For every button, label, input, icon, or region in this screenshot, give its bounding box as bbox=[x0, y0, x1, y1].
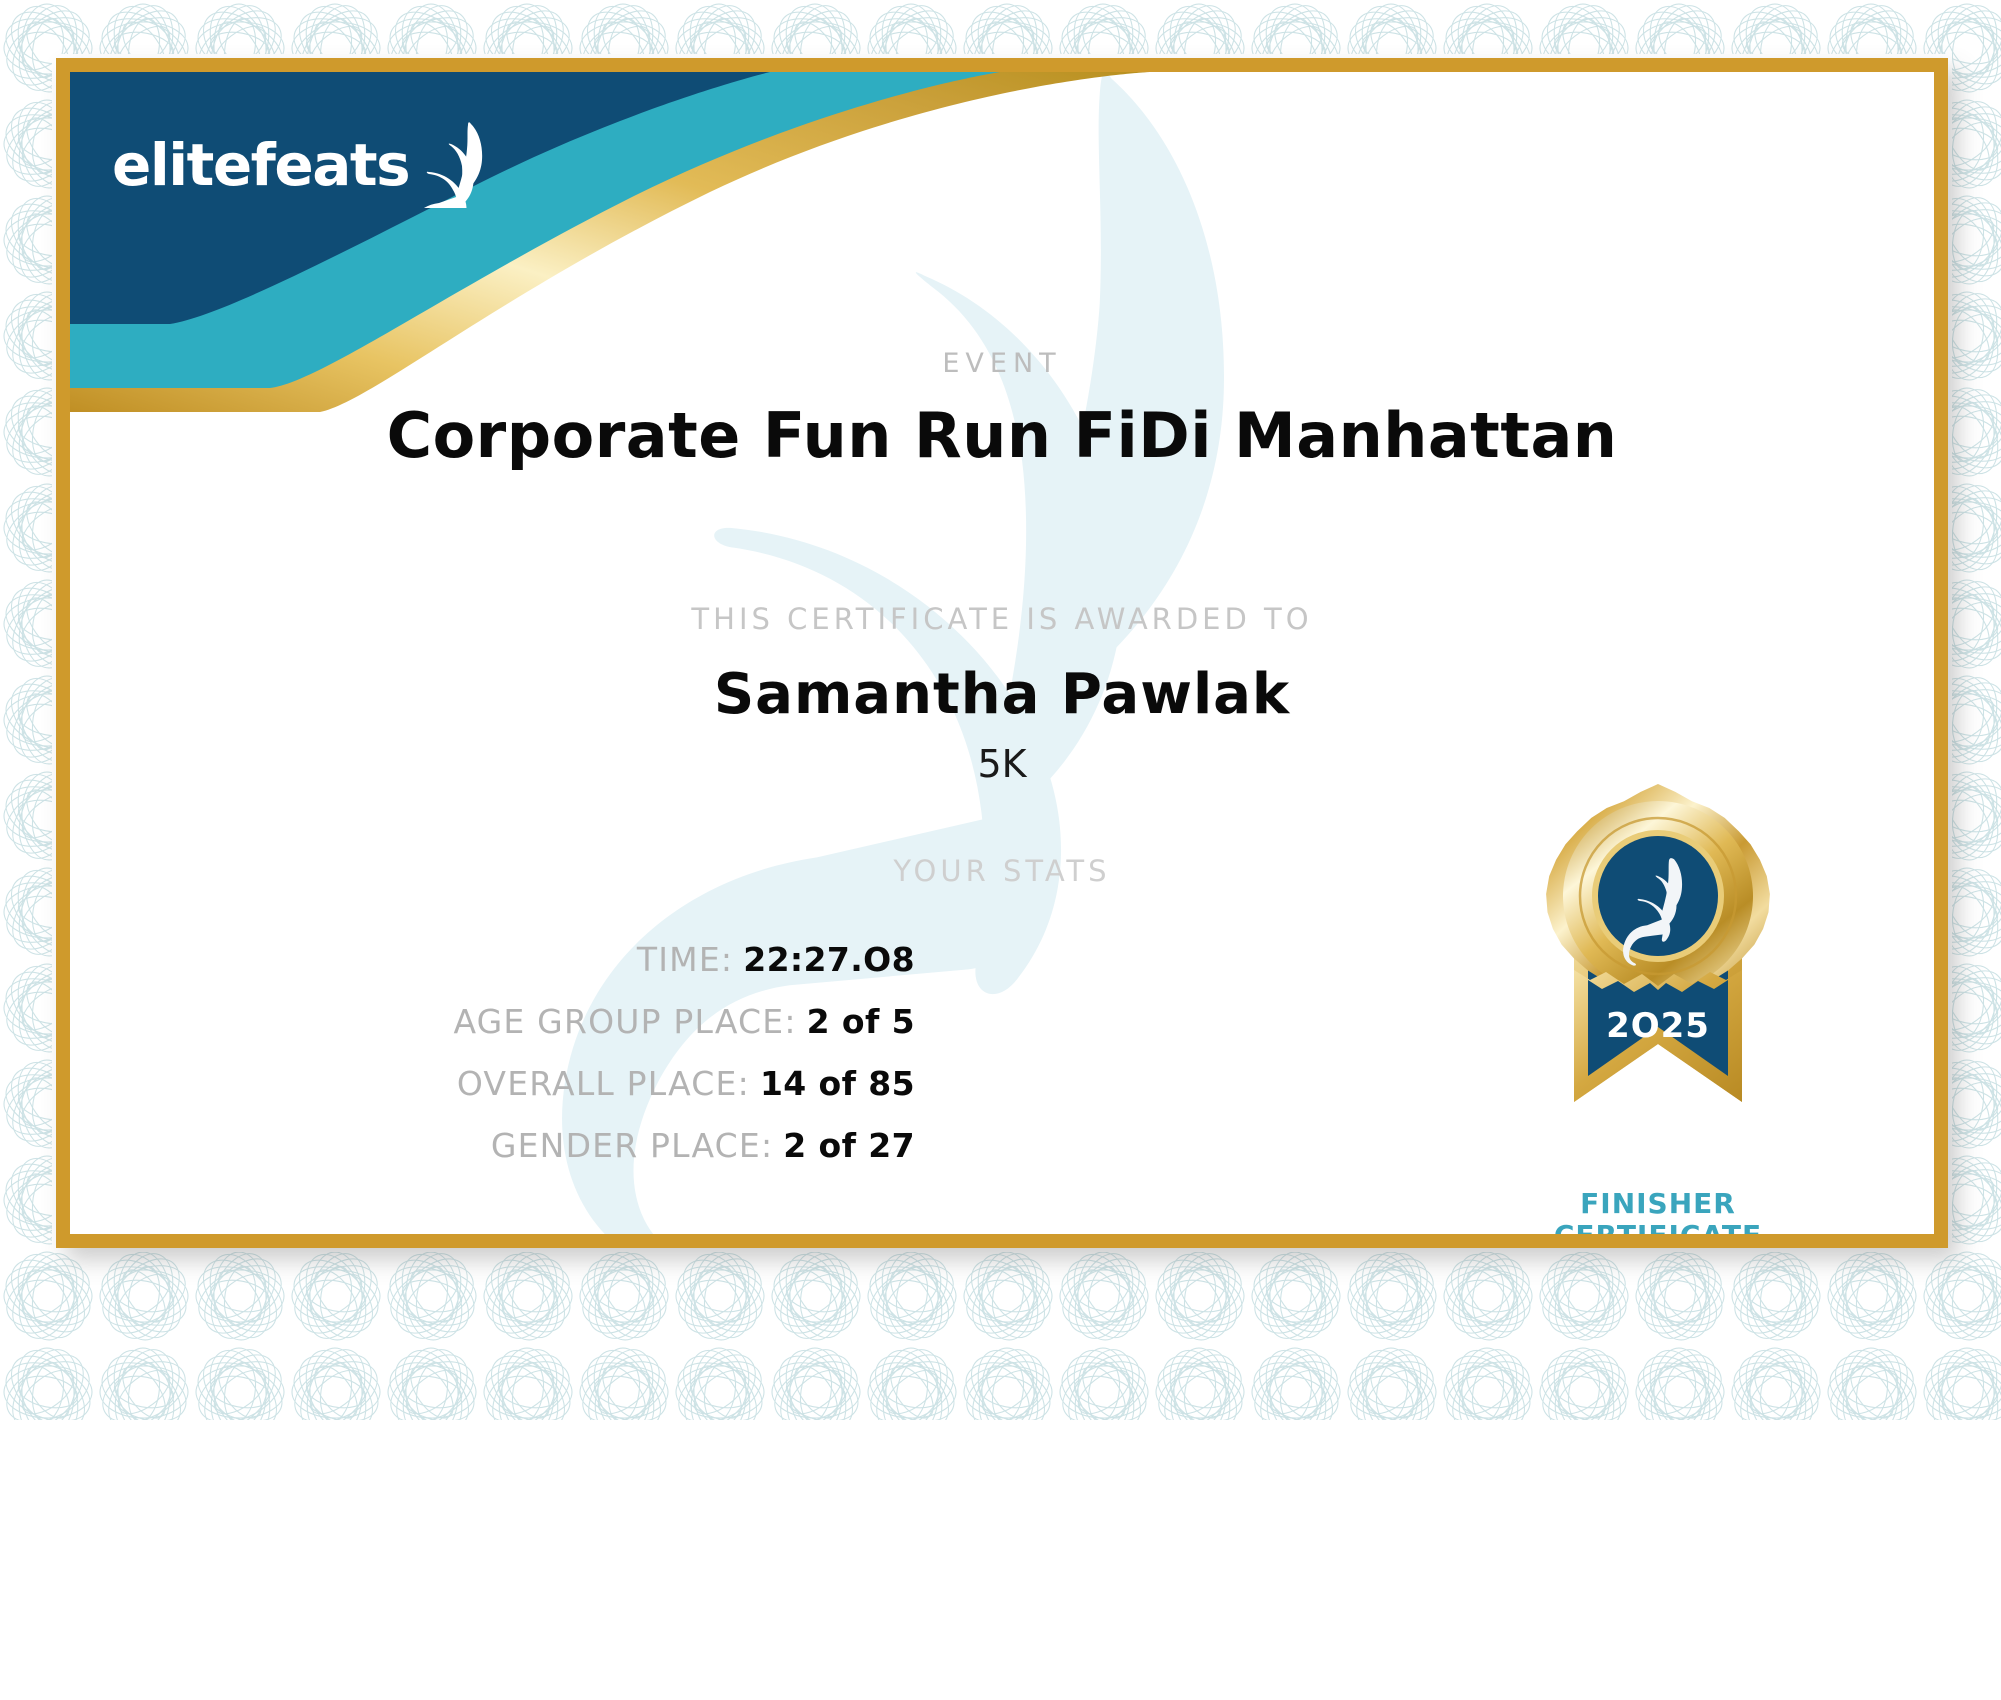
event-title: Corporate Fun Run FiDi Manhattan bbox=[70, 399, 1934, 472]
stat-label: OVERALL PLACE: bbox=[457, 1064, 750, 1103]
certificate-inner: elitefeats EVENT Corporate Fun Run FiDi … bbox=[70, 72, 1934, 1234]
stat-row-overall-place: OVERALL PLACE: 14 of 85 bbox=[70, 1064, 915, 1126]
stat-row-gender-place: GENDER PLACE: 2 of 27 bbox=[70, 1126, 915, 1188]
stat-label: GENDER PLACE: bbox=[491, 1126, 773, 1165]
recipient-name: Samantha Pawlak bbox=[70, 662, 1934, 727]
certificate-content: EVENT Corporate Fun Run FiDi Manhattan T… bbox=[70, 72, 1934, 1234]
stat-label: TIME: bbox=[637, 940, 733, 979]
ribbon-front: 2O25 bbox=[1574, 970, 1742, 1102]
certificate-frame: elitefeats EVENT Corporate Fun Run FiDi … bbox=[56, 58, 1948, 1248]
stat-label: AGE GROUP PLACE: bbox=[453, 1002, 796, 1041]
badge-year: 2O25 bbox=[1606, 1006, 1710, 1046]
stats-list: TIME: 22:27.O8 AGE GROUP PLACE: 2 of 5 O… bbox=[70, 940, 915, 1188]
race-distance: 5K bbox=[70, 742, 1934, 786]
finisher-badge: 2O25 FINISHER CERTIFICATE bbox=[1508, 784, 1808, 1234]
stat-value: 2 of 27 bbox=[783, 1126, 915, 1165]
awarded-to-label: THIS CERTIFICATE IS AWARDED TO bbox=[70, 602, 1934, 636]
event-label: EVENT bbox=[70, 348, 1934, 379]
winged-foot-icon bbox=[415, 122, 493, 208]
certificate-page: elitefeats EVENT Corporate Fun Run FiDi … bbox=[0, 0, 2001, 1700]
badge-caption: FINISHER CERTIFICATE bbox=[1508, 1188, 1808, 1234]
badge-caption-line1: FINISHER bbox=[1508, 1188, 1808, 1220]
stat-row-time: TIME: 22:27.O8 bbox=[70, 940, 915, 1002]
logo-wordmark: elitefeats bbox=[112, 136, 409, 194]
stat-row-age-group-place: AGE GROUP PLACE: 2 of 5 bbox=[70, 1002, 915, 1064]
stat-value: 22:27.O8 bbox=[743, 940, 915, 979]
stat-value: 14 of 85 bbox=[760, 1064, 915, 1103]
stat-value: 2 of 5 bbox=[807, 1002, 915, 1041]
badge-caption-line2: CERTIFICATE bbox=[1508, 1220, 1808, 1234]
elitefeats-logo: elitefeats bbox=[112, 122, 493, 208]
medal-ribbon-icon: 2O25 bbox=[1508, 784, 1808, 1184]
